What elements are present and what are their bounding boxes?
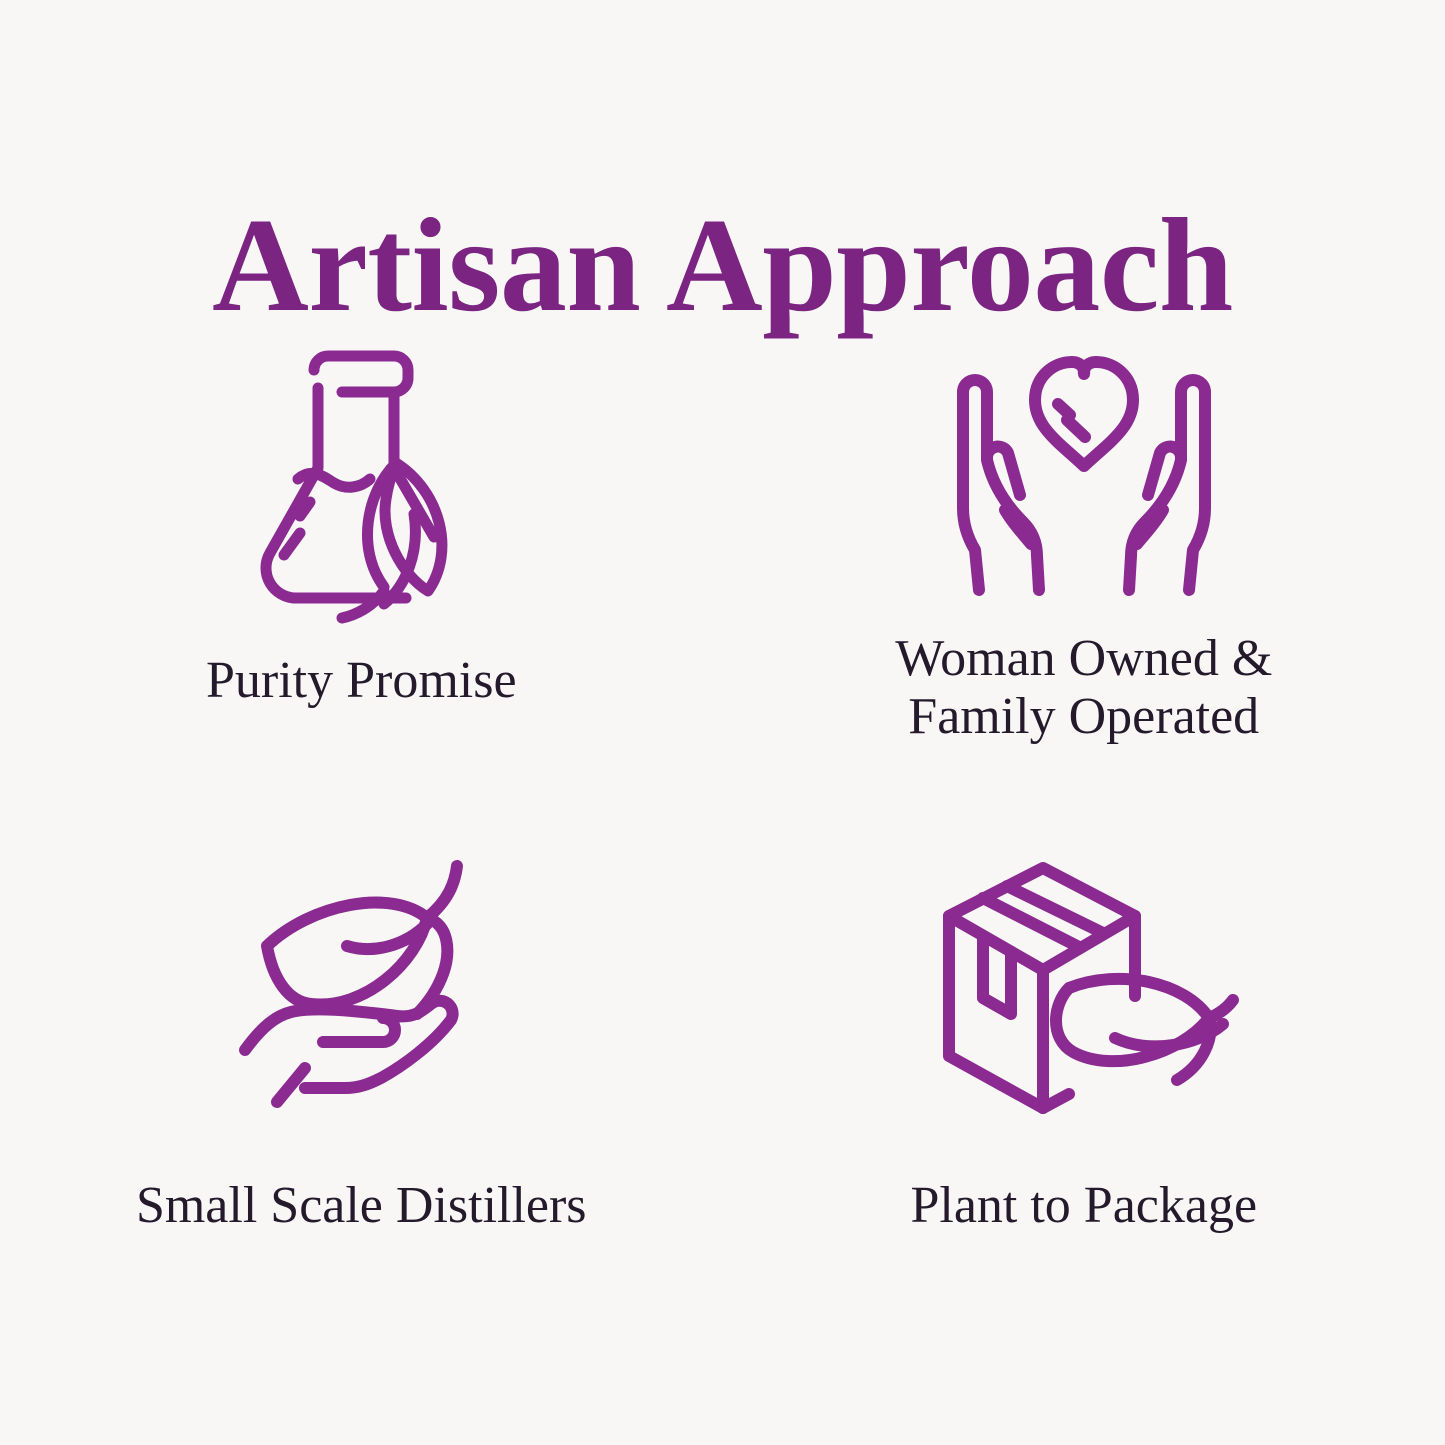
- box-with-leaf-icon: [718, 835, 1445, 1135]
- leaf-in-open-hand-icon: [0, 835, 723, 1135]
- feature-item-purity-promise[interactable]: Purity Promise: [0, 330, 723, 835]
- feature-item-small-scale-distillers[interactable]: Small Scale Distillers: [0, 835, 723, 1340]
- artisan-approach-panel: Artisan Approach: [0, 0, 1445, 1445]
- feature-item-woman-owned[interactable]: Woman Owned & Family Operated: [723, 330, 1445, 835]
- feature-label-woman-owned: Woman Owned & Family Operated: [895, 630, 1272, 746]
- flask-leaf-icon: [0, 330, 723, 630]
- feature-item-plant-to-package[interactable]: Plant to Package: [723, 835, 1445, 1340]
- feature-grid: Purity Promise: [0, 330, 1445, 1340]
- page-title: Artisan Approach: [0, 194, 1445, 336]
- hands-holding-heart-icon: [723, 330, 1445, 620]
- feature-label-purity-promise: Purity Promise: [206, 652, 517, 710]
- feature-label-small-scale-distillers: Small Scale Distillers: [136, 1177, 587, 1235]
- feature-label-plant-to-package: Plant to Package: [910, 1177, 1257, 1235]
